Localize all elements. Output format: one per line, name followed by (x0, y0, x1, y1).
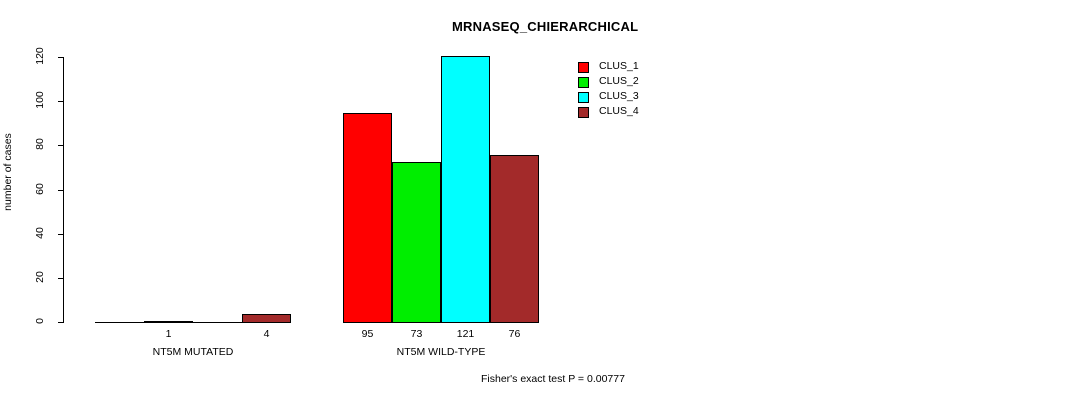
y-axis-tick (58, 57, 63, 58)
y-axis-tick (58, 101, 63, 102)
legend-label-clus-4: CLUS_4 (599, 105, 639, 117)
y-axis-tick-label: 40 (34, 218, 46, 248)
y-axis-tick (58, 234, 63, 235)
y-axis-tick-label: 0 (34, 306, 46, 336)
bar-clus-1-2 (343, 113, 392, 323)
bar-value-label: 76 (490, 328, 539, 340)
bar-clus-4-1 (242, 314, 291, 323)
bar-chart-plot: MRNASEQ_CHIERARCHICAL number of cases 02… (0, 0, 1090, 400)
chart-annotation: Fisher's exact test P = 0.00777 (481, 373, 625, 385)
y-axis-tick (58, 190, 63, 191)
legend-swatch-clus-2 (578, 77, 589, 88)
y-axis-tick-label: 80 (34, 129, 46, 159)
legend-swatch-clus-3 (578, 92, 589, 103)
chart-title-text: MRNASEQ_CHIERARCHICAL (452, 19, 638, 34)
y-axis-tick-label: 60 (34, 174, 46, 204)
legend-label-clus-3: CLUS_3 (599, 90, 639, 102)
legend-swatch-clus-1 (578, 62, 589, 73)
bar-value-label: 1 (144, 328, 193, 340)
legend-label-clus-1: CLUS_1 (599, 60, 639, 72)
bar-clus-4-2 (490, 155, 539, 323)
y-axis-tick-label: 100 (34, 85, 46, 115)
bar-value-label: 121 (441, 328, 490, 340)
bar-value-label: 4 (242, 328, 291, 340)
y-axis-tick-label: 20 (34, 262, 46, 292)
legend-swatch-clus-4 (578, 107, 589, 118)
bar-value-label: 73 (392, 328, 441, 340)
bar-clus-3-2 (441, 56, 490, 323)
bar-value-label: 95 (343, 328, 392, 340)
x-axis-group-label: NT5M WILD-TYPE (343, 346, 539, 358)
y-axis-tick (58, 278, 63, 279)
x-axis-group-label: NT5M MUTATED (95, 346, 291, 358)
bar-clus-2-2 (392, 162, 441, 323)
legend-label-clus-2: CLUS_2 (599, 75, 639, 87)
y-axis-tick (58, 145, 63, 146)
y-axis-tick-label: 120 (34, 41, 46, 71)
bar-clus-2-1 (144, 321, 193, 323)
y-axis-label: number of cases (2, 112, 14, 232)
y-axis-tick (58, 322, 63, 323)
y-axis-spine (63, 57, 64, 323)
